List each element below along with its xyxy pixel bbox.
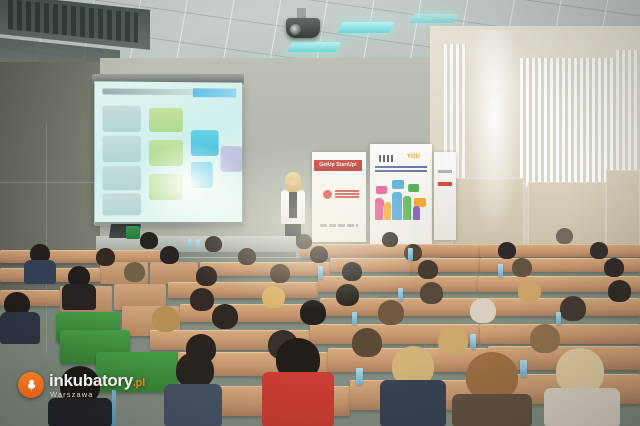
green-object [126,226,140,239]
banner-header: YOU [378,150,424,162]
water-bottle [318,266,323,279]
audience-torso [24,260,56,284]
window-glare [466,30,522,240]
banner-text-line [438,170,452,173]
audience-head [96,248,115,266]
slide-box [103,136,141,162]
getup-startup-banner: GetUp StartUp! [312,152,366,242]
audience-head [160,246,179,264]
water-bottle [498,264,503,277]
audience-head [404,244,422,261]
youth-program-banner: YOU [370,144,432,246]
audience-head [512,258,532,277]
audience-torso [544,388,620,426]
audience-head [262,286,285,308]
watermark-tld: .pl [133,377,145,389]
audience-head [518,280,541,302]
audience-torso [48,398,112,426]
watermark-logo: inkubatory.pl Warszawa [18,372,145,399]
audience-head [438,326,468,355]
water-bottle [398,288,403,301]
side-banner [434,152,456,240]
audience-head [124,262,145,282]
slide-box [103,166,141,190]
audience-torso [380,380,446,426]
water-bottle [470,334,476,349]
person-figure-icon [403,196,411,220]
banner-logo-icon [323,190,332,199]
audience-head [300,300,326,325]
slide-box [149,108,183,132]
photo-scene: GetUp StartUp! YOU [0,0,640,426]
audience-head [378,300,404,325]
audience-head [310,246,328,263]
audience-head [466,352,518,400]
audience-head [238,248,256,265]
audience-head [470,298,496,323]
audience-head [530,324,560,353]
audience-head [608,280,631,302]
ceiling-light-icon [288,42,341,52]
water-bottle [520,360,527,377]
window-curtain [520,58,616,186]
slide-box [103,193,141,215]
person-figure-icon [384,202,391,220]
banner-ribbon: GetUp StartUp! [314,160,362,171]
water-bottle [408,248,413,261]
water-bottle [352,312,357,325]
audience-head [152,306,179,332]
audience-torso [62,284,96,310]
audience-head [176,352,214,388]
audience-head [418,260,438,279]
presenter-top [289,192,297,218]
audience-head [420,282,443,304]
presenter-face [289,177,297,186]
banner-logo-text [335,190,359,199]
ceiling-light-icon [410,14,458,23]
audience-head [190,288,214,311]
audience-head [382,232,398,247]
person-figure-icon [392,192,402,220]
speech-bubble-icon [408,184,419,192]
projection-screen [94,81,242,224]
audience-head [342,262,362,281]
speech-bubble-icon [376,186,387,194]
projector-lens-icon [290,24,301,35]
seat-desk [480,324,640,344]
watermark-main-text: inkubatory.pl [49,372,145,389]
slide-box [103,106,141,132]
window-curtain [616,50,640,180]
banner-headline: GetUp StartUp! [314,160,362,171]
audience-torso [0,312,40,344]
audience-head [352,328,382,357]
projector-hotspot [143,144,246,226]
audience-head [296,234,312,249]
water-bottle [196,239,200,250]
audience-head [590,242,608,259]
water-bottle [188,238,192,249]
watermark-text: inkubatory.pl Warszawa [49,372,145,399]
audience-head [556,228,573,244]
audience-head [498,242,516,259]
banner-accent [438,182,452,186]
ceiling-light-icon [337,22,394,33]
audience-head [196,266,217,286]
watermark-sub-text: Warszawa [50,391,145,399]
watermark-name: inkubatory [49,371,133,390]
audience-head [205,236,222,252]
audience-head [270,264,290,283]
person-figure-icon [413,206,420,220]
banner-footer-text [320,224,358,227]
banner-logo-icon [379,155,393,162]
seat-desk [200,262,330,276]
slide-title-text [103,88,199,95]
inkubatory-badge-icon [18,372,44,398]
audience-head [212,304,238,329]
audience-head [336,284,359,306]
banner-subtitle-text [375,166,427,173]
audience-torso [262,372,334,426]
audience-torso [164,384,222,426]
water-bottle [556,312,561,325]
audience-head [560,296,586,321]
water-bottle [356,368,363,385]
audience-torso [452,394,532,426]
seat [150,262,198,284]
wall-seam [46,124,47,354]
audience-head [140,232,158,249]
person-figure-icon [375,198,383,220]
slide-header-tag [193,88,236,97]
audience-head [604,258,624,277]
banner-headline: YOU [407,154,420,160]
speech-bubble-icon [392,180,404,189]
